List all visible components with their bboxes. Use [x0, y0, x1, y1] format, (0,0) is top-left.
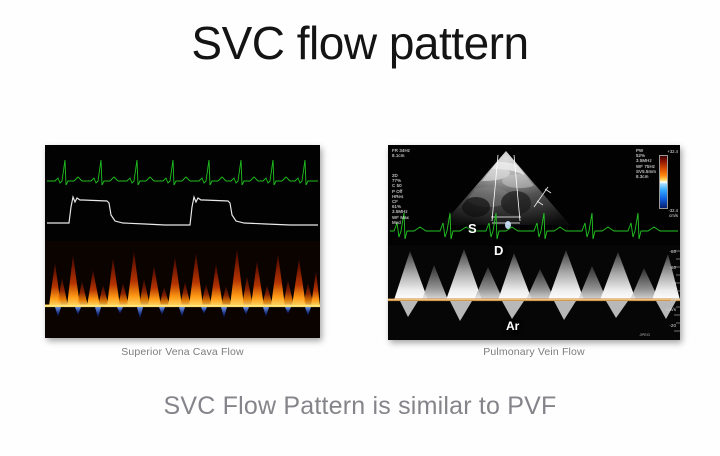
pvf-overlay-2d-settings: 2D 77% C 50 P Off HRes CF 61% 3.5MHz WF …: [392, 173, 409, 225]
pvf-colorbar-bottom-label: -32.4 cm/s: [668, 208, 678, 218]
pvf-velocity-tick-4: cm/s: [666, 307, 676, 312]
pvf-velocity-tick-0: -80: [669, 249, 676, 254]
systolic-wave-label: S: [468, 221, 477, 236]
diastolic-wave-label: D: [494, 243, 503, 258]
svc-flow-image: [45, 145, 320, 338]
page-title: SVC flow pattern: [0, 16, 720, 70]
pvf-velocity-colorbar: [659, 155, 668, 209]
svc-ecg-trace: [47, 160, 318, 185]
pulmonary-vein-flow-image: FR 34Hz 8.1cm 2D 77% C 50 P Off HRes CF …: [388, 145, 680, 340]
atrial-reversal-label: Ar: [506, 319, 519, 333]
pvf-velocity-tick-3: -20: [669, 297, 676, 302]
pvf-overlay-frame-info: FR 34Hz 8.1cm: [392, 148, 410, 158]
pvf-velocity-tick-1: -60: [669, 265, 676, 270]
pvf-colorbar-top-label: +32.4: [667, 149, 678, 154]
pulmonary-vein-flow-caption: Pulmonary Vein Flow: [388, 346, 680, 358]
svc-waveform-canvas: [45, 145, 320, 338]
pvf-2d-sector-image: [442, 151, 570, 229]
svc-pressure-trace: [47, 197, 318, 225]
pvf-footer-text: JPEG: [640, 332, 650, 337]
pvf-velocity-tick-5: -20: [669, 323, 676, 328]
pvf-velocity-tick-2: -40: [669, 281, 676, 286]
slide-subtitle: SVC Flow Pattern is similar to PVF: [0, 392, 720, 421]
pvf-overlay-pw-settings: PW 52% 3.5MHz WF 75Hz SV5.5mm 8.3cm: [636, 148, 656, 179]
svc-flow-caption: Superior Vena Cava Flow: [45, 346, 320, 358]
